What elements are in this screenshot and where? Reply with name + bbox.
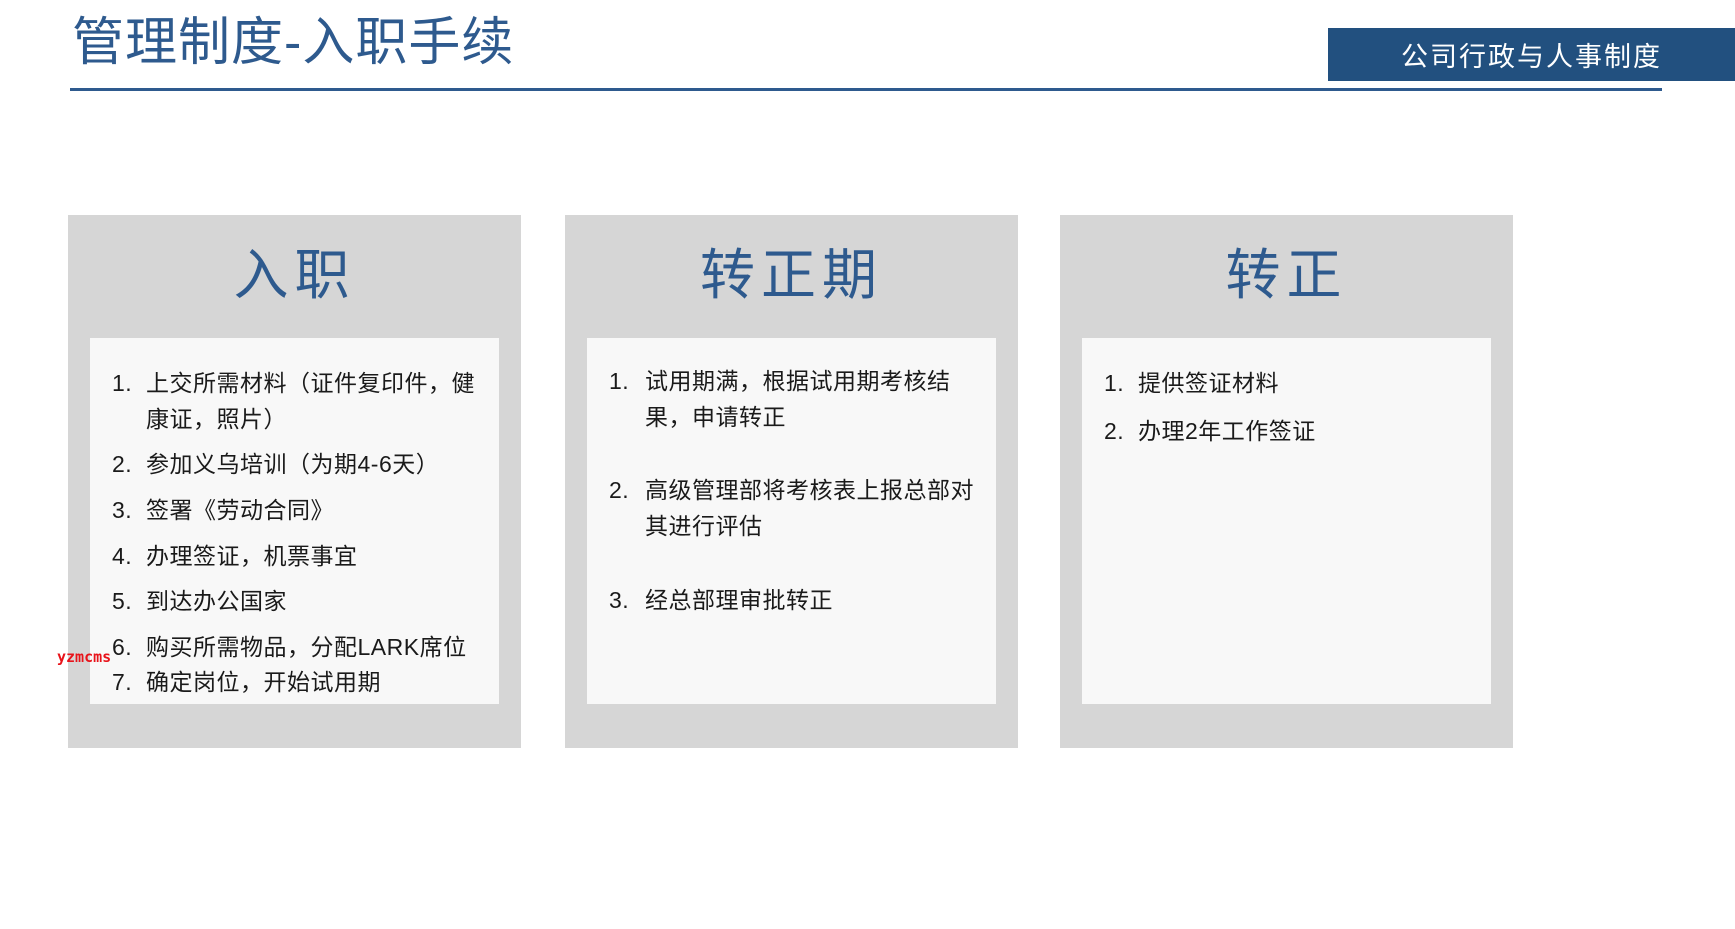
list-item: 1. 提供签证材料: [1104, 366, 1475, 402]
list-item: 1. 试用期满，根据试用期考核结果，申请转正: [609, 364, 980, 435]
list-item-number: 3.: [112, 493, 132, 529]
list-item-text: 确定岗位，开始试用期: [146, 669, 381, 695]
list-item: 7. 确定岗位，开始试用期: [112, 665, 483, 701]
list-item-number: 5.: [112, 584, 132, 620]
list-item-number: 2.: [1104, 414, 1124, 450]
list-item-text: 签署《劳动合同》: [146, 497, 334, 523]
list-item-number: 2.: [609, 473, 629, 509]
list-item-number: 1.: [609, 364, 629, 400]
list-item-text: 购买所需物品，分配LARK席位: [146, 634, 467, 660]
list-item-text: 提供签证材料: [1138, 370, 1279, 396]
list-item: 4. 办理签证，机票事宜: [112, 539, 483, 575]
list-item: 5. 到达办公国家: [112, 584, 483, 620]
list-item-number: 6.: [112, 630, 132, 666]
list-item-text: 参加义乌培训（为期4-6天）: [146, 451, 439, 477]
column-card-2: 1. 试用期满，根据试用期考核结果，申请转正 2. 高级管理部将考核表上报总部对…: [587, 338, 996, 704]
slide-canvas: 管理制度-入职手续 公司行政与人事制度 入职 1. 上交所需材料（证件复印件，健…: [0, 0, 1735, 929]
list-item: 3. 签署《劳动合同》: [112, 493, 483, 529]
item-list-3: 1. 提供签证材料 2. 办理2年工作签证: [1104, 366, 1475, 449]
list-item: 6. 购买所需物品，分配LARK席位: [112, 630, 483, 666]
item-list-1: 1. 上交所需材料（证件复印件，健康证，照片） 2. 参加义乌培训（为期4-6天…: [112, 366, 483, 701]
item-list-2: 1. 试用期满，根据试用期考核结果，申请转正 2. 高级管理部将考核表上报总部对…: [609, 364, 980, 618]
list-item-number: 2.: [112, 447, 132, 483]
column-heading-2: 转正期: [565, 245, 1018, 306]
list-item-text: 试用期满，根据试用期考核结果，申请转正: [645, 368, 951, 430]
column-heading-3: 转正: [1060, 245, 1513, 306]
list-item: 2. 办理2年工作签证: [1104, 414, 1475, 450]
column-card-3: 1. 提供签证材料 2. 办理2年工作签证: [1082, 338, 1491, 704]
list-item-number: 3.: [609, 583, 629, 619]
list-item: 1. 上交所需材料（证件复印件，健康证，照片）: [112, 366, 483, 437]
list-item-number: 4.: [112, 539, 132, 575]
list-item: 2. 高级管理部将考核表上报总部对其进行评估: [609, 473, 980, 544]
list-item-text: 高级管理部将考核表上报总部对其进行评估: [645, 477, 974, 539]
column-card-1: 1. 上交所需材料（证件复印件，健康证，照片） 2. 参加义乌培训（为期4-6天…: [90, 338, 499, 704]
column-heading-1: 入职: [68, 245, 521, 306]
list-item-number: 1.: [1104, 366, 1124, 402]
site-watermark: yzmcms: [57, 648, 111, 666]
column-onboarding: 入职 1. 上交所需材料（证件复印件，健康证，照片） 2. 参加义乌培训（为期4…: [68, 215, 521, 748]
list-item-text: 办理2年工作签证: [1138, 418, 1316, 444]
list-item-number: 7.: [112, 665, 132, 701]
list-item: 3. 经总部理审批转正: [609, 583, 980, 619]
list-item-text: 经总部理审批转正: [645, 587, 833, 613]
list-item-text: 到达办公国家: [146, 588, 287, 614]
list-item-text: 办理签证，机票事宜: [146, 543, 358, 569]
columns-container: 入职 1. 上交所需材料（证件复印件，健康证，照片） 2. 参加义乌培训（为期4…: [0, 0, 1735, 929]
column-regularization: 转正 1. 提供签证材料 2. 办理2年工作签证: [1060, 215, 1513, 748]
list-item-number: 1.: [112, 366, 132, 402]
list-item-text: 上交所需材料（证件复印件，健康证，照片）: [146, 370, 475, 432]
column-probation: 转正期 1. 试用期满，根据试用期考核结果，申请转正 2. 高级管理部将考核表上…: [565, 215, 1018, 748]
list-item: 2. 参加义乌培训（为期4-6天）: [112, 447, 483, 483]
